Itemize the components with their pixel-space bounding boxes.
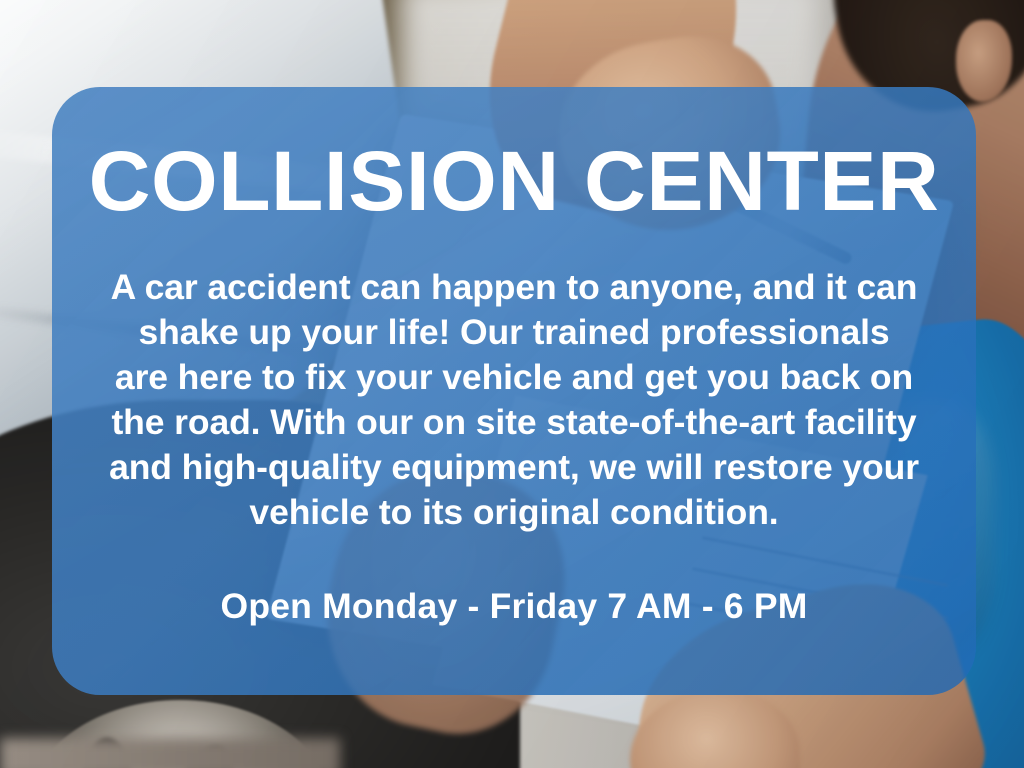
info-card: COLLISION CENTER A car accident can happ…	[52, 87, 976, 695]
poster-canvas: COLLISION CENTER A car accident can happ…	[0, 0, 1024, 768]
page-title: COLLISION CENTER	[89, 87, 940, 225]
business-hours-text: Open Monday - Friday 7 AM - 6 PM	[221, 535, 808, 627]
description-text: A car accident can happen to anyone, and…	[108, 225, 920, 535]
info-card-content: COLLISION CENTER A car accident can happ…	[110, 87, 918, 627]
